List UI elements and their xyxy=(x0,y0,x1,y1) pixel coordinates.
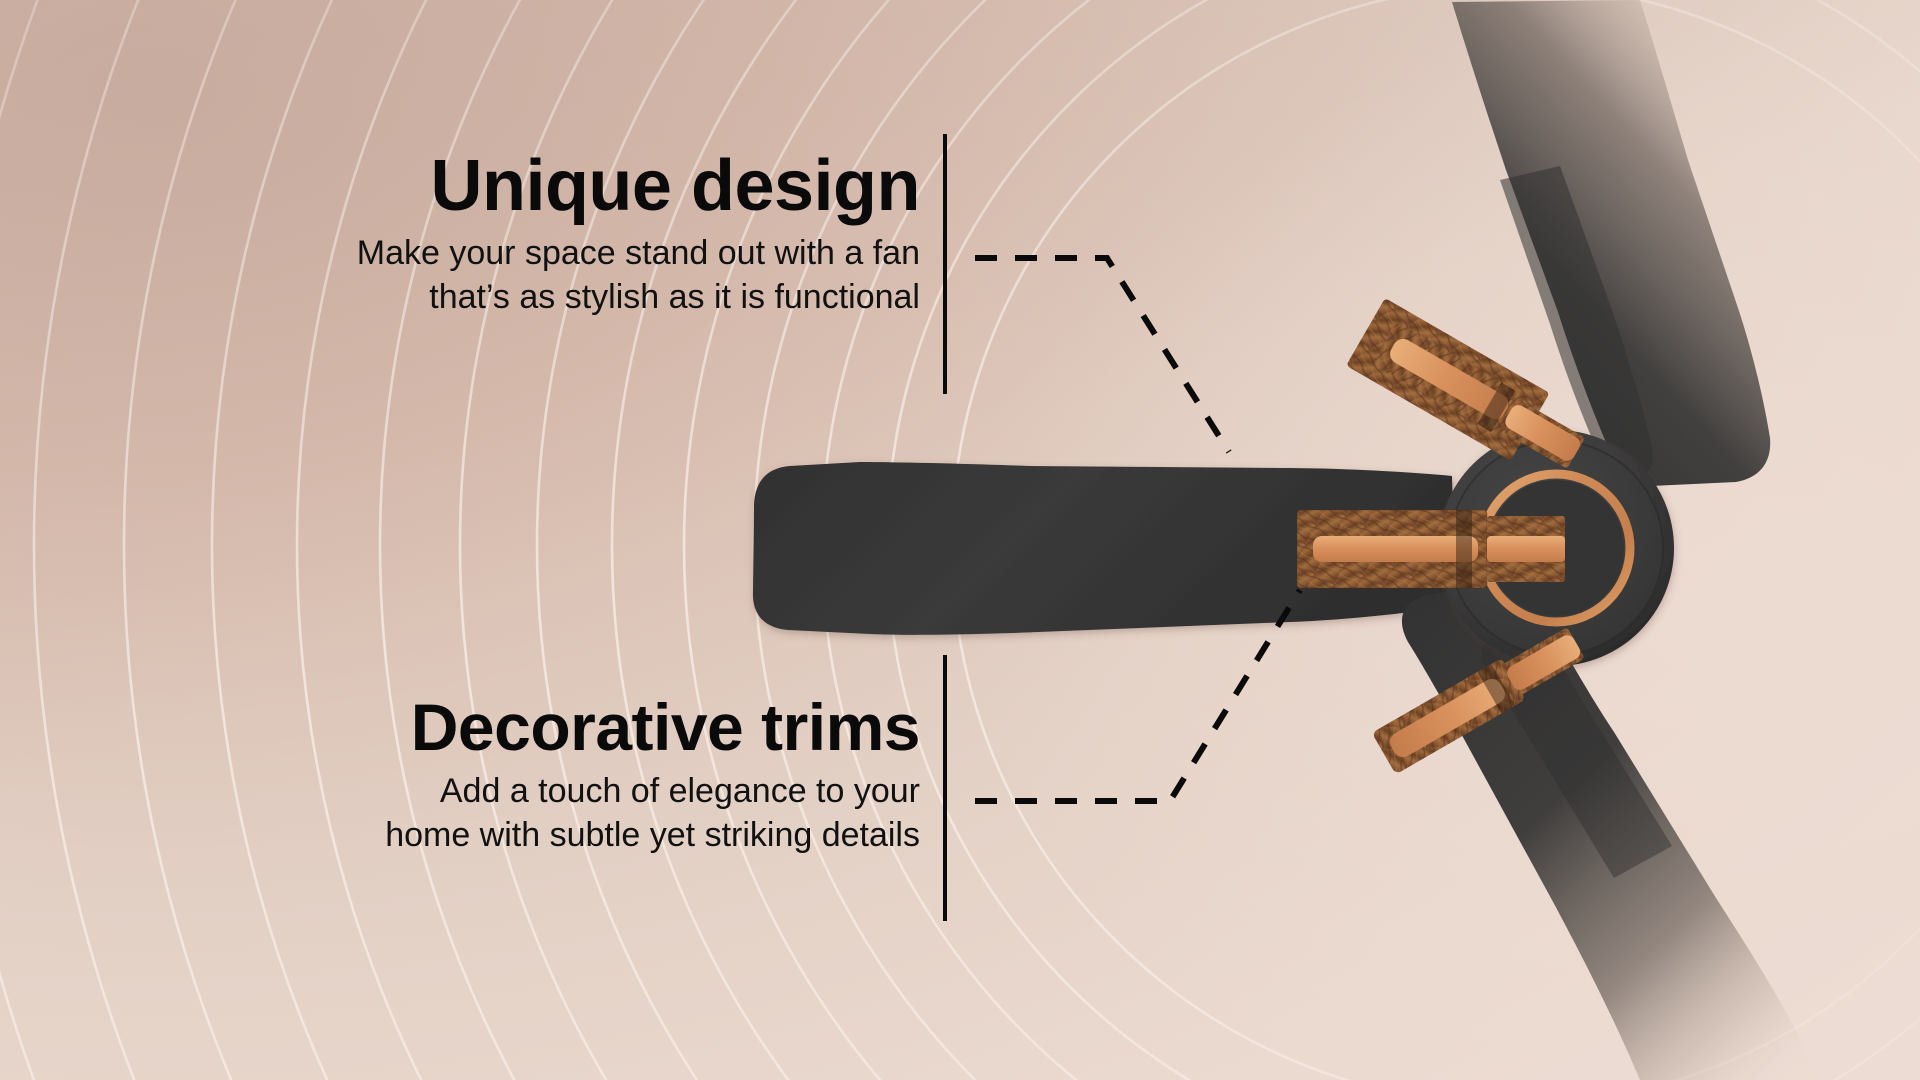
feature-block-decorative-trims: Decorative trims Add a touch of elegance… xyxy=(60,694,920,857)
feature-title-unique-design: Unique design xyxy=(60,150,920,222)
fan-blade-bottom-right xyxy=(1402,577,1820,1080)
feature-title-decorative-trims: Decorative trims xyxy=(60,694,920,760)
feature-block-unique-design: Unique design Make your space stand out … xyxy=(60,150,920,319)
decorative-trim-left xyxy=(1297,510,1565,588)
feature-subtitle-line-1: Make your space stand out with a fan xyxy=(60,232,920,276)
divider-rule-top xyxy=(943,134,947,394)
feature-subtitle-line-2: that’s as stylish as it is functional xyxy=(60,276,920,320)
trim-copper-stripe xyxy=(1313,536,1478,562)
divider-rule-bottom xyxy=(943,655,947,921)
poster-canvas: Unique design Make your space stand out … xyxy=(0,0,1920,1080)
feature-subtitle-line-1: Add a touch of elegance to your xyxy=(60,770,920,814)
feature-subtitle-line-2: home with subtle yet striking details xyxy=(60,814,920,858)
